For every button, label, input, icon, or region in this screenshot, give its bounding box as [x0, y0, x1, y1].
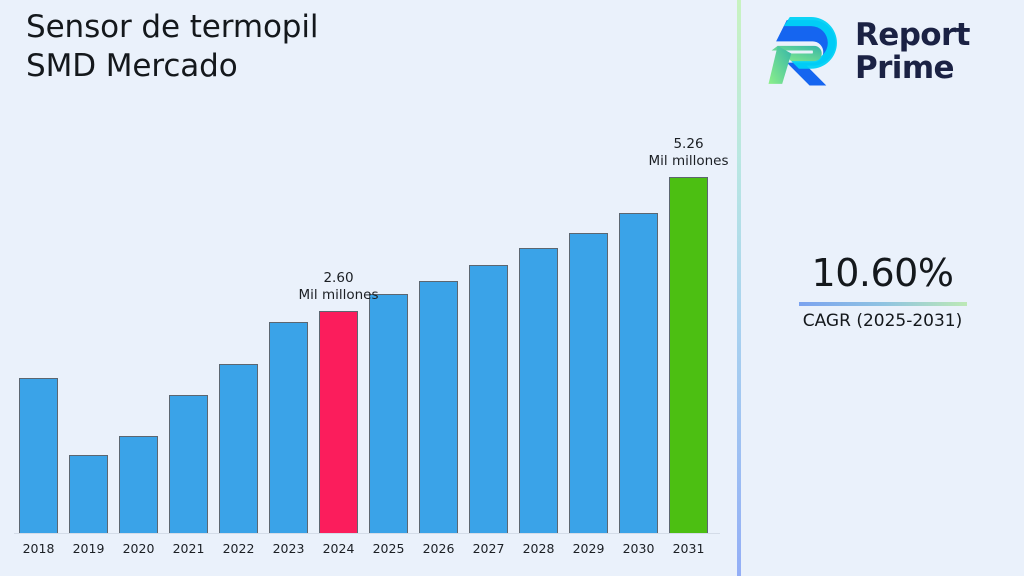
logo-wordmark: Report Prime — [855, 19, 970, 86]
bar-2027 — [469, 265, 508, 533]
cagr-label: CAGR (2025-2031) — [741, 311, 1024, 331]
bar-2029 — [569, 233, 608, 533]
bar-2026 — [419, 281, 458, 533]
bar-2030 — [619, 213, 658, 533]
bar-2023 — [269, 322, 308, 533]
bar-2025 — [369, 294, 408, 533]
bar-value-label-2024: 2.60 Mil millones — [259, 270, 419, 305]
bar-2018 — [19, 378, 58, 533]
bar-2021 — [169, 395, 208, 533]
chart-panel: Sensor de termopil SMD Mercado 2.60 Mil … — [0, 0, 739, 576]
report-prime-logo[interactable]: Report Prime — [767, 14, 970, 90]
cagr-value: 10.60% — [741, 252, 1024, 296]
report-prime-logo-mark — [767, 14, 843, 90]
bar-2024 — [319, 311, 358, 533]
x-tick-2031: 2031 — [659, 541, 719, 556]
bar-2019 — [69, 455, 108, 533]
bar-2028 — [519, 248, 558, 533]
cagr-block: 10.60% CAGR (2025-2031) — [741, 252, 1024, 331]
bar-2020 — [119, 436, 158, 533]
bar-2031 — [669, 177, 708, 533]
bar-chart-plot: 2.60 Mil millones5.26 Mil millones 20182… — [0, 0, 739, 576]
cagr-divider-rule — [799, 302, 967, 306]
bar-2022 — [219, 364, 258, 533]
summary-panel: Report Prime 10.60% CAGR (2025-2031) — [741, 0, 1024, 576]
x-axis-line — [14, 533, 720, 534]
